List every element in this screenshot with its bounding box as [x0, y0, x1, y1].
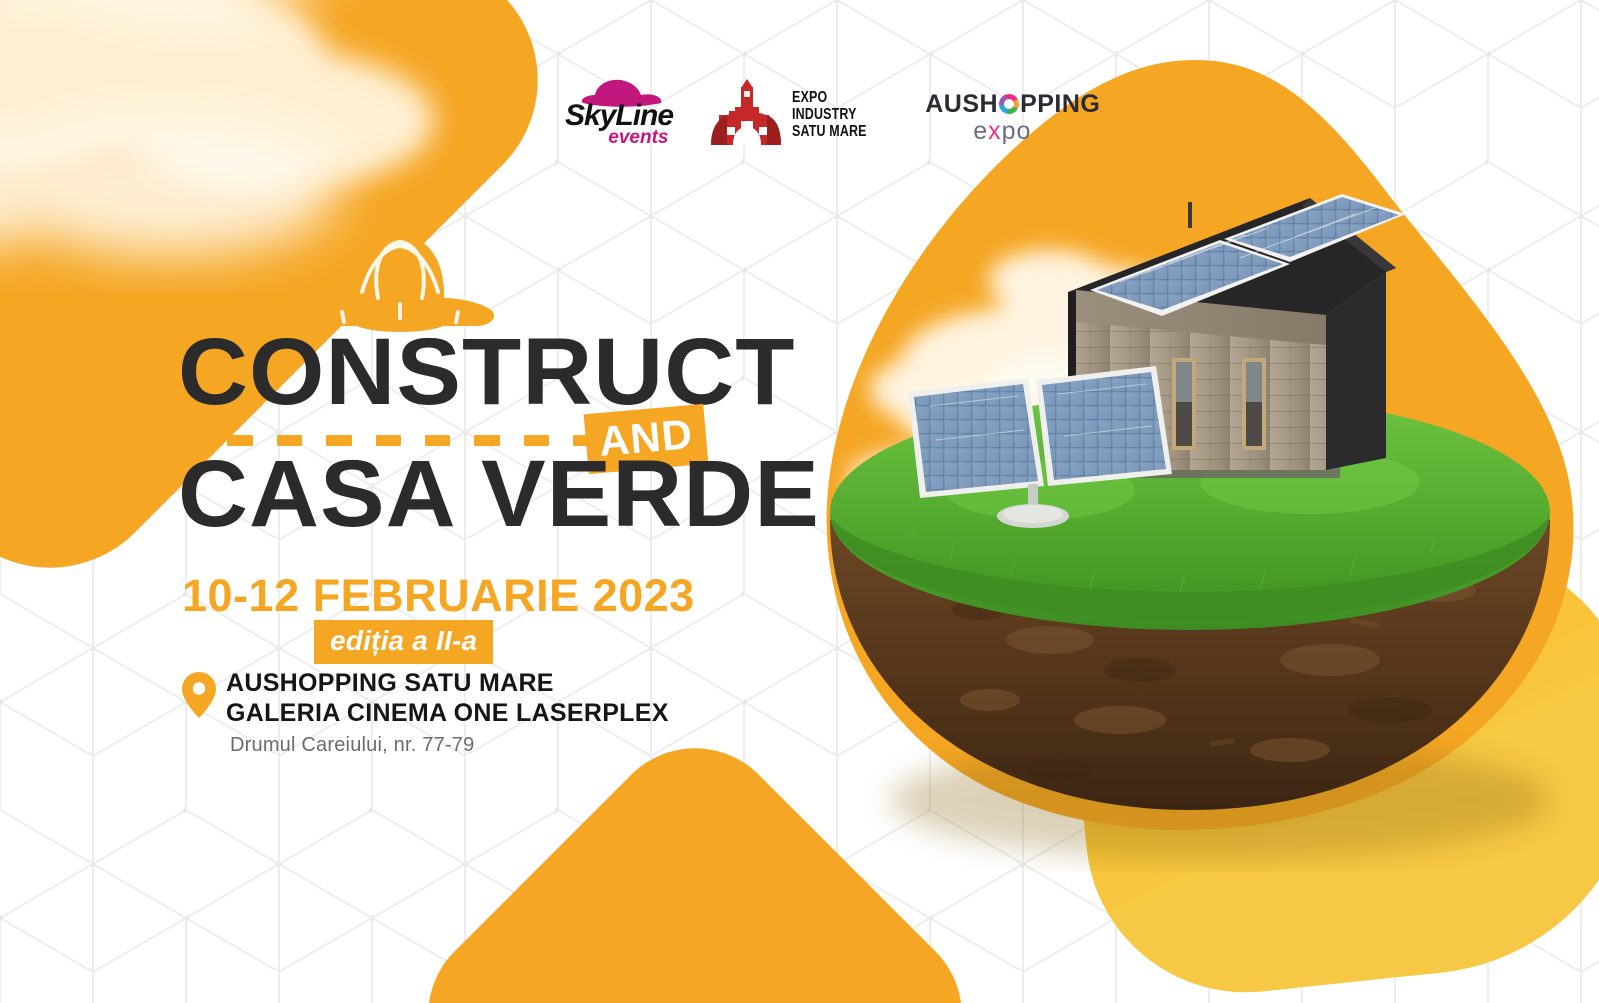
logo-aushopping-expo[interactable]: AUSH PPING expo [925, 84, 1085, 146]
poster-canvas: SkyLine events [0, 0, 1599, 1003]
venue-line-1: AUSHOPPING SATU MARE [226, 668, 722, 698]
logo-expo-line-2: INDUSTRY [792, 106, 867, 123]
event-date: 10-12 FEBRUARIE 2023 [182, 570, 695, 622]
logo-skyline-events[interactable]: SkyLine events [565, 75, 667, 155]
venue-line-2: GALERIA CINEMA ONE LASERPLEX [226, 698, 722, 728]
logo-expo-text: EXPO INDUSTRY SATU MARE [792, 89, 888, 140]
logo-aushopping-prefix: AUSH [925, 90, 998, 119]
colorwheel-icon [999, 94, 1019, 114]
eco-house-scene [790, 140, 1590, 890]
title-line-2: CASA VERDE [178, 452, 708, 536]
event-title: CONSTRUCT AND CASA VERDE [178, 330, 698, 536]
title-line-1: CONSTRUCT [178, 330, 708, 414]
logo-expo-line-1: EXPO [792, 89, 867, 106]
logo-aushopping-primary: AUSH PPING [925, 90, 1100, 119]
logo-expo-line-3: SATU MARE [792, 123, 867, 140]
logo-aushopping-suffix: PPING [1020, 90, 1100, 119]
venue-block: AUSHOPPING SATU MARE GALERIA CINEMA ONE … [182, 668, 722, 757]
venue-name: AUSHOPPING SATU MARE GALERIA CINEMA ONE … [226, 668, 722, 728]
event-edition-badge: ediția a II-a [314, 620, 493, 664]
venue-address: Drumul Careiului, nr. 77-79 [230, 734, 722, 757]
castle-icon [705, 79, 783, 151]
logo-skyline-secondary: events [608, 127, 668, 149]
location-pin-icon [182, 672, 216, 718]
